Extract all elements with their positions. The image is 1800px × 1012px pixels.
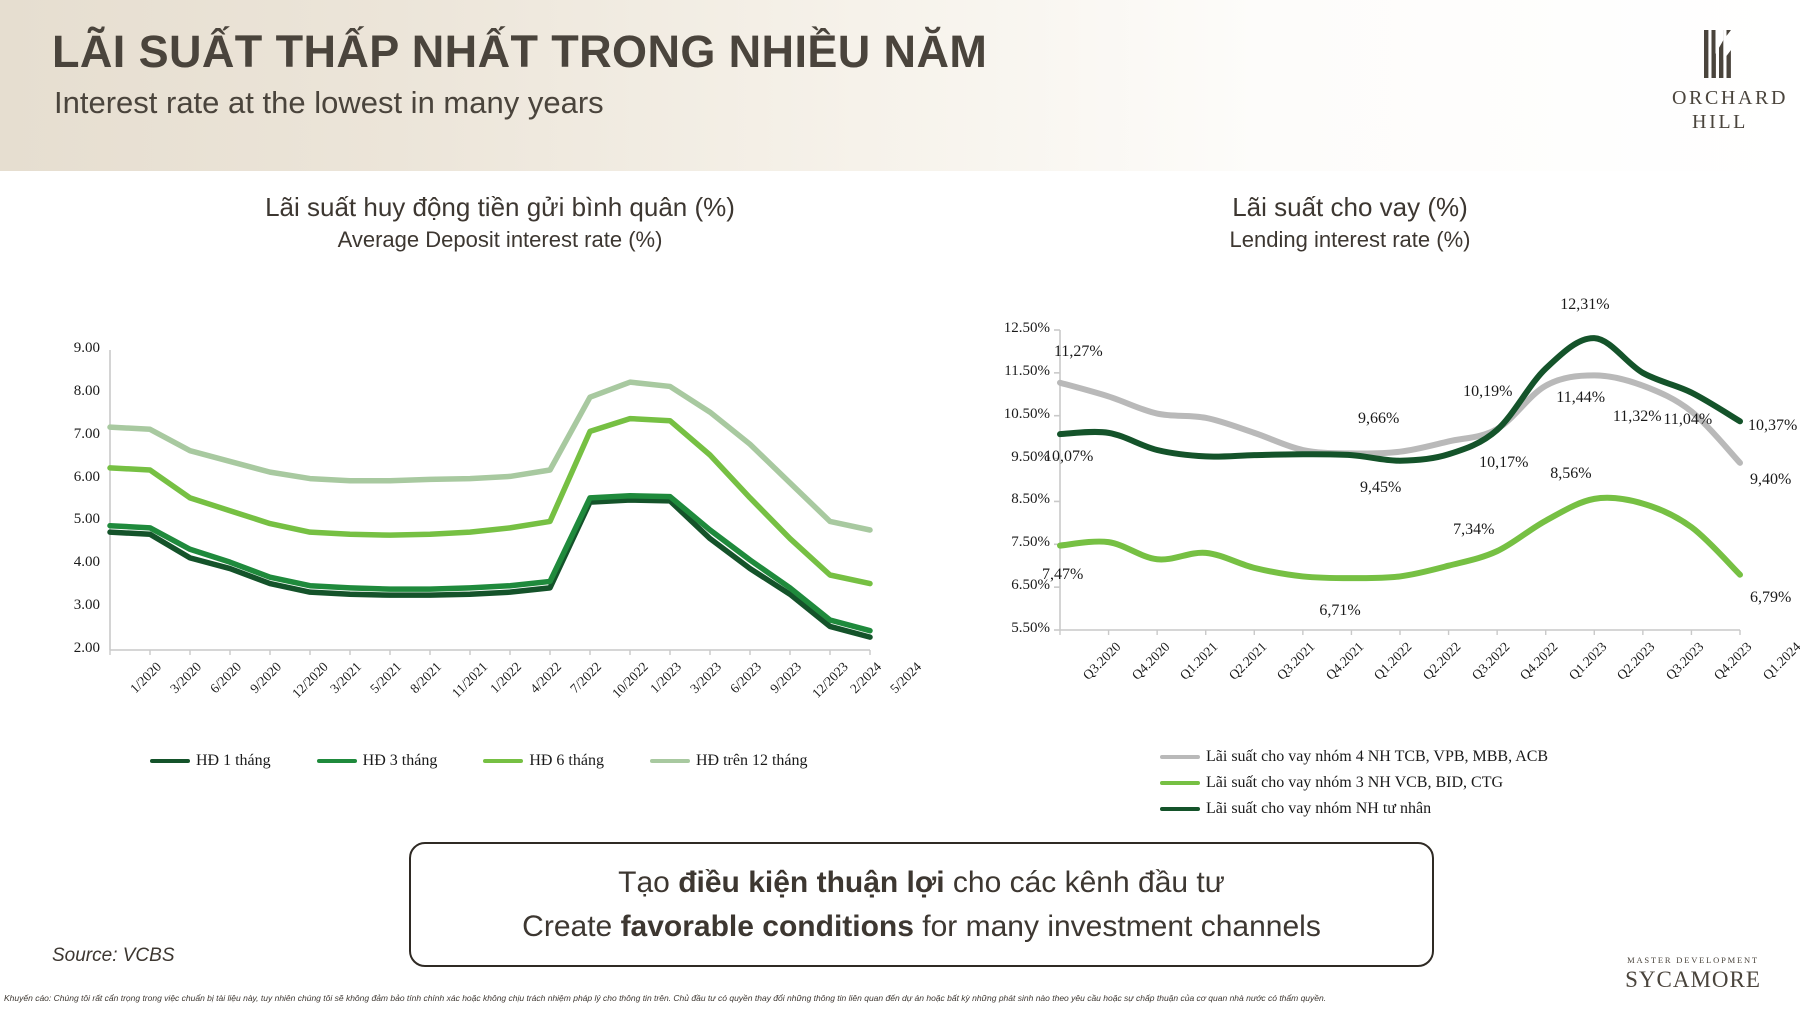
- data-point-label: 6,79%: [1750, 589, 1791, 607]
- brand-logo: ORCHARD HILL: [1672, 26, 1768, 135]
- y-tick-label: 7.50%: [986, 534, 1050, 551]
- y-tick-label: 11.50%: [986, 363, 1050, 380]
- y-tick-label: 7.00: [36, 426, 100, 443]
- data-point-label: 10,19%: [1463, 383, 1512, 401]
- orchard-hill-mark-icon: [1672, 26, 1768, 81]
- data-point-label: 11,32%: [1613, 408, 1662, 426]
- callout-line-en: Create favorable conditions for many inv…: [522, 905, 1321, 949]
- legend-item[interactable]: Lãi suất cho vay nhóm 3 NH VCB, BID, CTG: [1160, 774, 1548, 792]
- sycamore-tagline: MASTER DEVELOPMENT: [1608, 955, 1778, 965]
- data-point-label: 7,47%: [1042, 566, 1083, 584]
- data-point-label: 10,17%: [1479, 454, 1528, 472]
- callout-en-b: for many investment channels: [914, 910, 1321, 943]
- lending-chart-title: Lãi suất cho vay (%): [960, 192, 1740, 223]
- callout-en-a: Create: [522, 910, 620, 943]
- disclaimer-text: Khuyến cáo: Chúng tôi rất cẩn trọng tron…: [0, 993, 1800, 1004]
- page-title: LÃI SUẤT THẤP NHẤT TRONG NHIỀU NĂM: [52, 26, 987, 78]
- data-point-label: 6,71%: [1319, 602, 1360, 620]
- legend-swatch-icon: [150, 759, 190, 763]
- callout-vi-b: cho các kênh đầu tư: [945, 866, 1225, 899]
- y-tick-label: 8.00: [36, 383, 100, 400]
- legend-item[interactable]: HĐ 6 tháng: [483, 752, 604, 770]
- sycamore-name: SYCAMORE: [1608, 967, 1778, 993]
- legend-label: HĐ 1 tháng: [196, 752, 271, 770]
- deposit-chart-title: Lãi suất huy động tiền gửi bình quân (%): [60, 192, 940, 223]
- data-point-label: 11,44%: [1556, 389, 1605, 407]
- callout-line-vi: Tạo điều kiện thuận lợi cho các kênh đầu…: [618, 861, 1225, 905]
- sycamore-logo: MASTER DEVELOPMENT SYCAMORE: [1608, 955, 1778, 993]
- logo-text-line1: ORCHARD: [1672, 86, 1768, 110]
- page-header: LÃI SUẤT THẤP NHẤT TRONG NHIỀU NĂM Inter…: [0, 0, 1800, 171]
- lending-chart-subtitle: Lending interest rate (%): [960, 226, 1740, 254]
- legend-item[interactable]: HĐ 1 tháng: [150, 752, 271, 770]
- data-point-label: 9,66%: [1358, 410, 1399, 428]
- deposit-chart-legend: HĐ 1 thángHĐ 3 thángHĐ 6 thángHĐ trên 12…: [150, 752, 854, 770]
- legend-swatch-icon: [650, 759, 690, 763]
- data-point-label: 11,27%: [1054, 343, 1103, 361]
- y-tick-label: 8.50%: [986, 491, 1050, 508]
- lending-chart-legend: Lãi suất cho vay nhóm 4 NH TCB, VPB, MBB…: [1160, 748, 1548, 826]
- series-line: [1060, 498, 1740, 578]
- legend-label: Lãi suất cho vay nhóm NH tư nhân: [1206, 800, 1431, 818]
- y-tick-label: 6.50%: [986, 577, 1050, 594]
- data-point-label: 8,56%: [1550, 465, 1591, 483]
- y-tick-label: 4.00: [36, 554, 100, 571]
- callout-vi-bold: điều kiện thuận lợi: [678, 866, 944, 899]
- y-tick-label: 2.00: [36, 640, 100, 657]
- series-line: [1060, 338, 1740, 461]
- legend-item[interactable]: HĐ trên 12 tháng: [650, 752, 808, 770]
- legend-label: HĐ 3 tháng: [363, 752, 438, 770]
- y-tick-label: 5.50%: [986, 620, 1050, 637]
- source-label: Source: VCBS: [52, 945, 175, 967]
- y-tick-label: 5.00: [36, 511, 100, 528]
- legend-swatch-icon: [1160, 807, 1200, 811]
- legend-swatch-icon: [1160, 755, 1200, 759]
- legend-item[interactable]: Lãi suất cho vay nhóm NH tư nhân: [1160, 800, 1548, 818]
- series-line: [110, 496, 870, 631]
- callout-en-bold: favorable conditions: [621, 910, 914, 943]
- data-point-label: 12,31%: [1560, 296, 1609, 314]
- deposit-chart-subtitle: Average Deposit interest rate (%): [60, 226, 940, 254]
- legend-label: Lãi suất cho vay nhóm 3 NH VCB, BID, CTG: [1206, 774, 1503, 792]
- legend-label: Lãi suất cho vay nhóm 4 NH TCB, VPB, MBB…: [1206, 748, 1548, 766]
- y-tick-label: 6.00: [36, 469, 100, 486]
- series-line: [110, 500, 870, 637]
- lending-rate-chart: [950, 320, 1800, 720]
- data-point-label: 7,34%: [1453, 521, 1494, 539]
- y-tick-label: 3.00: [36, 597, 100, 614]
- callout-vi-a: Tạo: [618, 866, 678, 899]
- y-tick-label: 9.00: [36, 340, 100, 357]
- y-tick-label: 12.50%: [986, 320, 1050, 337]
- data-point-label: 9,40%: [1750, 471, 1791, 489]
- callout-box: Tạo điều kiện thuận lợi cho các kênh đầu…: [409, 842, 1434, 967]
- data-point-label: 11,04%: [1663, 411, 1712, 429]
- logo-text-line2: HILL: [1672, 110, 1768, 134]
- legend-item[interactable]: HĐ 3 tháng: [317, 752, 438, 770]
- legend-swatch-icon: [483, 759, 523, 763]
- data-point-label: 9,45%: [1360, 479, 1401, 497]
- legend-label: HĐ trên 12 tháng: [696, 752, 808, 770]
- legend-swatch-icon: [317, 759, 357, 763]
- deposit-rate-chart-canvas: [0, 340, 960, 660]
- data-point-label: 10,07%: [1044, 448, 1093, 466]
- data-point-label: 10,37%: [1748, 417, 1797, 435]
- legend-item[interactable]: Lãi suất cho vay nhóm 4 NH TCB, VPB, MBB…: [1160, 748, 1548, 766]
- y-tick-label: 9.50%: [986, 449, 1050, 466]
- page-subtitle: Interest rate at the lowest in many year…: [54, 85, 604, 121]
- legend-swatch-icon: [1160, 781, 1200, 785]
- legend-label: HĐ 6 tháng: [529, 752, 604, 770]
- y-tick-label: 10.50%: [986, 406, 1050, 423]
